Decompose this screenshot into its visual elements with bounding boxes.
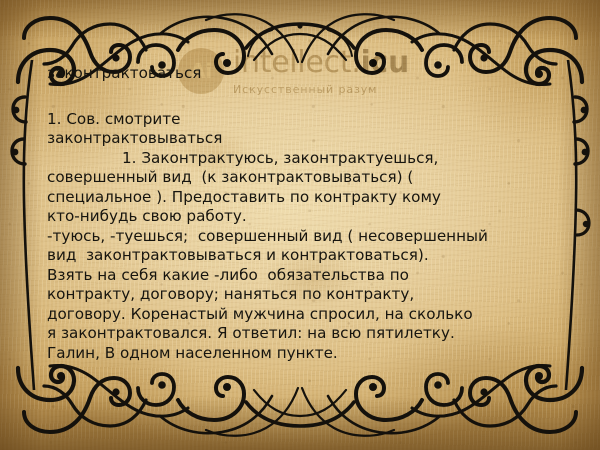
body-line: -туюсь, -туешься; совершенный вид ( несо… xyxy=(47,227,559,247)
sense-reference-line-2: законтрактовываться xyxy=(47,129,559,149)
body-line: Взять на себя какие -либо обязательства … xyxy=(47,266,559,286)
headword-title: законтрактоваться xyxy=(47,64,559,84)
body-line: кто-нибудь свою работу. xyxy=(47,207,559,227)
body-line: договору. Коренастый мужчина спросил, на… xyxy=(47,305,559,325)
body-line: 1. Законтрактуюсь, законтрактуешься, xyxy=(47,149,559,169)
article-body: 1. Законтрактуюсь, законтрактуешься, сов… xyxy=(47,149,559,364)
sense-reference-line-1: 1. Сов. смотрите xyxy=(47,110,559,130)
body-line: контракту, договору; наняться по контрак… xyxy=(47,285,559,305)
body-line: вид законтрактовываться и контрактоватьс… xyxy=(47,246,559,266)
sense-reference: 1. Сов. смотрите законтрактовываться xyxy=(47,110,559,149)
body-line: специальное ). Предоставить по контракту… xyxy=(47,188,559,208)
dictionary-article: законтрактоваться 1. Сов. смотрите закон… xyxy=(47,64,559,363)
body-line: совершенный вид (к законтрактовываться) … xyxy=(47,168,559,188)
parchment-card: Ai intellect.icu Искусственный разум зак… xyxy=(0,0,600,450)
body-line: я законтрактовался. Я ответил: на всю пя… xyxy=(47,324,559,344)
body-line: Галин, В одном населенном пункте. xyxy=(47,344,559,364)
